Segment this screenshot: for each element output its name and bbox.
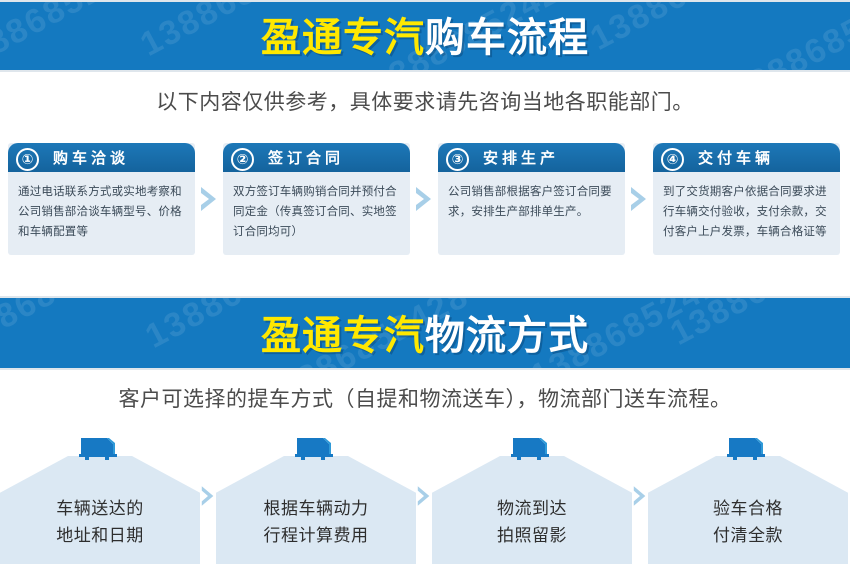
purchase-flow-banner: 13886852428 13886852428 13886852428 1388… bbox=[0, 0, 850, 72]
step-title-2: 签订合同 bbox=[268, 147, 344, 168]
logistics-subtitle: 客户可选择的提车方式（自提和物流送车），物流部门送车流程。 bbox=[0, 383, 850, 413]
logistics-banner: 13886852428 13886852428 13886852428 1388… bbox=[0, 296, 850, 370]
logistics-pentagon-2: 根据车辆动力 行程计算费用 bbox=[216, 456, 416, 564]
step-chevron-2 bbox=[410, 143, 438, 255]
truck-icon bbox=[511, 436, 553, 462]
step-number-4: ④ bbox=[661, 148, 684, 171]
logistics-label-4: 验车合格 付清全款 bbox=[713, 496, 783, 550]
logistics-chevron-3 bbox=[632, 436, 648, 564]
logistics-item-2[interactable]: 根据车辆动力 行程计算费用 bbox=[216, 436, 416, 564]
brand-name: 盈通专汽 bbox=[261, 313, 425, 359]
brand-name: 盈通专汽 bbox=[261, 15, 425, 61]
logistics-label-line2: 付清全款 bbox=[713, 526, 783, 546]
logistics-label-2: 根据车辆动力 行程计算费用 bbox=[264, 496, 369, 550]
logistics-chevron-1 bbox=[200, 436, 216, 564]
step-number-2: ② bbox=[231, 148, 254, 171]
step-chevron-1 bbox=[195, 143, 223, 255]
step-header-1: ① 购车洽谈 bbox=[8, 143, 195, 172]
logistics-pentagon-4: 验车合格 付清全款 bbox=[648, 456, 848, 564]
step-card-3[interactable]: ③ 安排生产 公司销售部根据客户签订合同要求，安排生产部排单生产。 bbox=[438, 143, 625, 255]
step-card-4[interactable]: ④ 交付车辆 到了交货期客户依据合同要求进行车辆交付验收，支付余款，交付客户上户… bbox=[653, 143, 840, 255]
banner-suffix: 物流方式 bbox=[425, 313, 589, 359]
logistics-label-line2: 地址和日期 bbox=[56, 526, 144, 546]
logistics-chevron-2 bbox=[416, 436, 432, 564]
truck-icon bbox=[295, 436, 337, 462]
step-chevron-3 bbox=[625, 143, 653, 255]
truck-icon bbox=[79, 436, 121, 462]
step-body-3: 公司销售部根据客户签订合同要求，安排生产部排单生产。 bbox=[438, 172, 625, 231]
page-root: 13886852428 13886852428 13886852428 1388… bbox=[0, 0, 850, 564]
purchase-steps-row: ① 购车洽谈 通过电话联系方式或实地考察和公司销售部洽谈车辆型号、价格和车辆配置… bbox=[8, 143, 842, 259]
step-number-1: ① bbox=[16, 148, 39, 171]
logistics-label-line2: 行程计算费用 bbox=[264, 526, 369, 546]
logistics-title: 盈通专汽物流方式 bbox=[0, 298, 850, 356]
logistics-label-line1: 车辆送达的 bbox=[56, 499, 144, 519]
logistics-item-1[interactable]: 车辆送达的 地址和日期 bbox=[0, 436, 200, 564]
step-title-4: 交付车辆 bbox=[698, 147, 774, 168]
logistics-label-line1: 物流到达 bbox=[497, 499, 567, 519]
step-card-2[interactable]: ② 签订合同 双方签订车辆购销合同并预付合同定金（传真签订合同、实地签订合同均可… bbox=[223, 143, 410, 255]
step-title-1: 购车洽谈 bbox=[53, 147, 129, 168]
step-header-2: ② 签订合同 bbox=[223, 143, 410, 172]
logistics-pentagon-1: 车辆送达的 地址和日期 bbox=[0, 456, 200, 564]
logistics-steps-row: 车辆送达的 地址和日期 根据车辆 bbox=[0, 436, 850, 564]
purchase-flow-title: 盈通专汽购车流程 bbox=[0, 2, 850, 58]
truck-icon bbox=[727, 436, 769, 462]
step-header-3: ③ 安排生产 bbox=[438, 143, 625, 172]
step-number-3: ③ bbox=[446, 148, 469, 171]
logistics-label-line2: 拍照留影 bbox=[497, 526, 567, 546]
step-body-2: 双方签订车辆购销合同并预付合同定金（传真签订合同、实地签订合同均可） bbox=[223, 172, 410, 251]
step-body-4: 到了交货期客户依据合同要求进行车辆交付验收，支付余款，交付客户上户发票，车辆合格… bbox=[653, 172, 840, 251]
banner-suffix: 购车流程 bbox=[425, 15, 589, 61]
logistics-item-3[interactable]: 物流到达 拍照留影 bbox=[432, 436, 632, 564]
logistics-label-1: 车辆送达的 地址和日期 bbox=[56, 496, 144, 550]
logistics-label-3: 物流到达 拍照留影 bbox=[497, 496, 567, 550]
logistics-item-4[interactable]: 验车合格 付清全款 bbox=[648, 436, 848, 564]
step-title-3: 安排生产 bbox=[483, 147, 559, 168]
purchase-subtitle: 以下内容仅供参考，具体要求请先咨询当地各职能部门。 bbox=[0, 86, 850, 116]
logistics-label-line1: 根据车辆动力 bbox=[264, 499, 369, 519]
step-body-1: 通过电话联系方式或实地考察和公司销售部洽谈车辆型号、价格和车辆配置等 bbox=[8, 172, 195, 251]
step-header-4: ④ 交付车辆 bbox=[653, 143, 840, 172]
logistics-pentagon-3: 物流到达 拍照留影 bbox=[432, 456, 632, 564]
logistics-label-line1: 验车合格 bbox=[713, 499, 783, 519]
step-card-1[interactable]: ① 购车洽谈 通过电话联系方式或实地考察和公司销售部洽谈车辆型号、价格和车辆配置… bbox=[8, 143, 195, 255]
